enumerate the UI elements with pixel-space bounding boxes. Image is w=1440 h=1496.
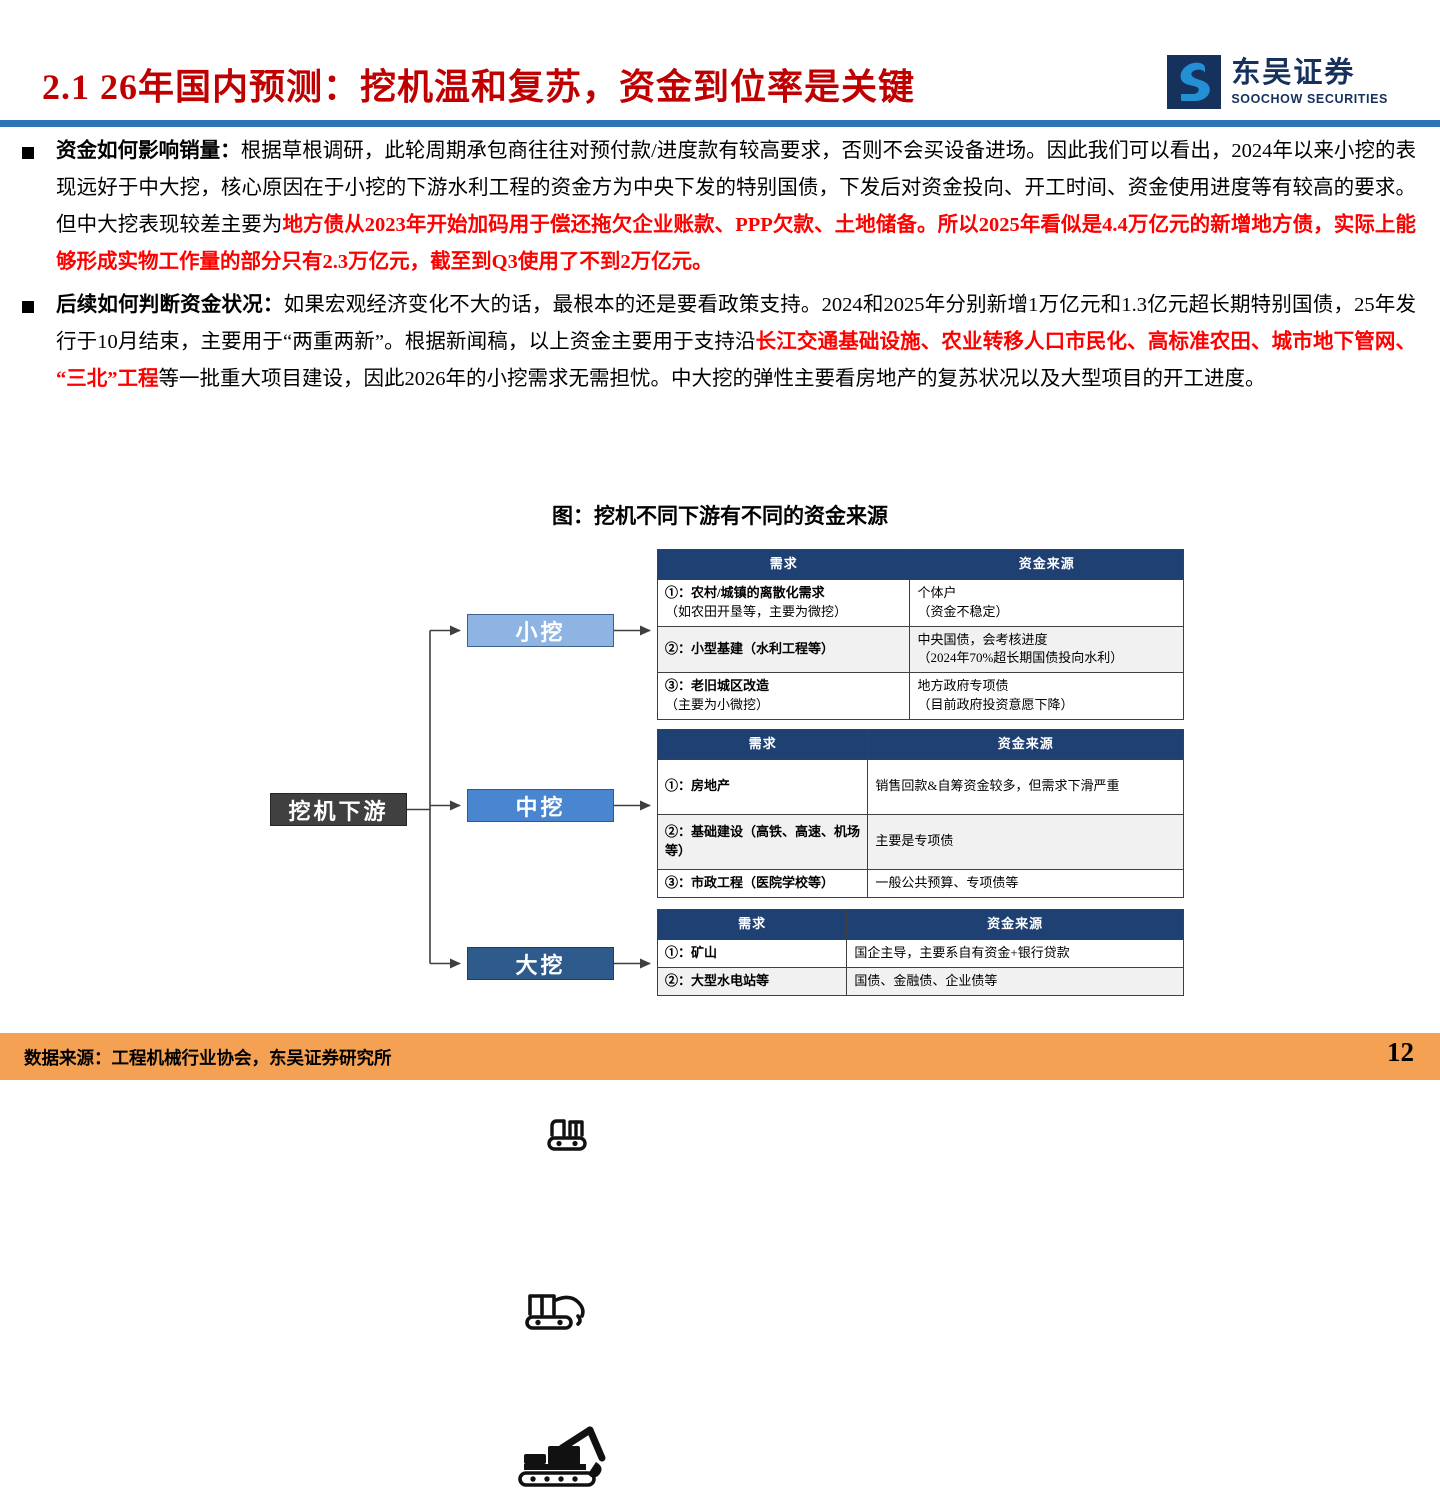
slide-footer: 数据来源：工程机械行业协会，东吴证券研究所 12	[0, 1033, 1440, 1080]
bullet-lead-1: 资金如何影响销量：	[56, 140, 241, 162]
cell-demand: ②：小型基建（水利工程等）	[658, 626, 910, 673]
col-demand: 需求	[658, 730, 868, 760]
source-main: 个体户	[917, 585, 956, 600]
source-main: 地方政府专项债	[917, 678, 1008, 693]
bullet-paragraph-2: 后续如何判断资金状况：如果宏观经济变化不大的话，最根本的还是要看政策支持。202…	[0, 287, 1440, 398]
demand-main: ①：农村/城镇的离散化需求	[665, 585, 825, 600]
square-bullet-icon	[22, 301, 34, 313]
cell-demand: ③：老旧城区改造 （主要为小微挖）	[658, 673, 910, 720]
cell-demand: ①：矿山	[658, 939, 847, 967]
company-logo: 东吴证券 SOOCHOW SECURITIES	[1167, 55, 1388, 109]
cell-demand: ③：市政工程（医院学校等）	[658, 869, 868, 897]
cell-demand: ①：房地产	[658, 759, 868, 814]
soochow-s-mark-icon	[1167, 55, 1221, 109]
bullet-run-2-2: 等一批重大项目建设，因此2026年的小挖需求无需担忧。中大挖的弹性主要看房地产的…	[159, 368, 1266, 390]
figure-diagram: 挖机下游 小挖 中挖 大挖 需求 资金来源 ①：农村/城镇的离散化需求 （如农田…	[0, 540, 1440, 1020]
bullet-text-1: 资金如何影响销量：根据草根调研，此轮周期承包商往往对预付款/进度款有较高要求，否…	[56, 133, 1416, 281]
node-medium-excavator[interactable]: 中挖	[467, 789, 614, 822]
logo-company-en: SOOCHOW SECURITIES	[1231, 93, 1388, 106]
figure-title: 图：挖机不同下游有不同的资金来源	[0, 500, 1440, 530]
table-row: ②：大型水电站等 国债、金融债、企业债等	[658, 967, 1184, 995]
cell-demand: ②：基础建设（高铁、高速、机场等）	[658, 814, 868, 869]
table-row: ①：矿山 国企主导，主要系自有资金+银行贷款	[658, 939, 1184, 967]
page-number: 12	[1387, 1037, 1414, 1068]
table-row: ①：农村/城镇的离散化需求 （如农田开垦等，主要为微挖） 个体户 （资金不稳定）	[658, 579, 1184, 626]
cell-source: 中央国债，会考核进度 （2024年70%超长期国债投向水利）	[910, 626, 1184, 673]
source-sub: （2024年70%超长期国债投向水利）	[917, 650, 1123, 665]
cell-source: 主要是专项债	[868, 814, 1184, 869]
body-content: 资金如何影响销量：根据草根调研，此轮周期承包商往往对预付款/进度款有较高要求，否…	[0, 133, 1440, 404]
cell-source: 地方政府专项债 （目前政府投资意愿下降）	[910, 673, 1184, 720]
col-demand: 需求	[658, 910, 847, 940]
source-main: 中央国债，会考核进度	[917, 632, 1047, 647]
mini-excavator-icon	[540, 1116, 596, 1156]
cell-source: 国债、金融债、企业债等	[847, 967, 1184, 995]
cell-source: 国企主导，主要系自有资金+银行贷款	[847, 939, 1184, 967]
table-header-row: 需求 资金来源	[658, 730, 1184, 760]
node-excavator-downstream[interactable]: 挖机下游	[270, 793, 407, 826]
node-small-excavator[interactable]: 小挖	[467, 614, 614, 647]
bullet-lead-2: 后续如何判断资金状况：	[56, 294, 284, 316]
col-funding-source: 资金来源	[910, 550, 1184, 580]
col-funding-source: 资金来源	[868, 730, 1184, 760]
square-bullet-icon	[22, 147, 34, 159]
demand-sub: （主要为小微挖）	[665, 697, 769, 712]
large-excavator-icon	[510, 1424, 622, 1496]
bullet-paragraph-1: 资金如何影响销量：根据草根调研，此轮周期承包商往往对预付款/进度款有较高要求，否…	[0, 133, 1440, 281]
table-row: ③：老旧城区改造 （主要为小微挖） 地方政府专项债 （目前政府投资意愿下降）	[658, 673, 1184, 720]
demand-main: ③：老旧城区改造	[665, 678, 769, 693]
cell-source: 销售回款&自筹资金较多，但需求下滑严重	[868, 759, 1184, 814]
slide-header: 2.1 26年国内预测：挖机温和复苏，资金到位率是关键 东吴证券 SOOCHOW…	[0, 0, 1440, 125]
source-sub: （目前政府投资意愿下降）	[917, 697, 1073, 712]
cell-source: 一般公共预算、专项债等	[868, 869, 1184, 897]
data-source-note: 数据来源：工程机械行业协会，东吴证券研究所	[24, 1045, 392, 1070]
table-row: ①：房地产 销售回款&自筹资金较多，但需求下滑严重	[658, 759, 1184, 814]
header-divider	[0, 120, 1440, 127]
cell-demand: ②：大型水电站等	[658, 967, 847, 995]
medium-excavator-icon	[520, 1288, 602, 1338]
table-medium-excavator-funding: 需求 资金来源 ①：房地产 销售回款&自筹资金较多，但需求下滑严重 ②：基础建设…	[657, 729, 1184, 898]
cell-demand: ①：农村/城镇的离散化需求 （如农田开垦等，主要为微挖）	[658, 579, 910, 626]
table-row: ②：基础建设（高铁、高速、机场等） 主要是专项债	[658, 814, 1184, 869]
source-sub: （资金不稳定）	[917, 604, 1008, 619]
col-demand: 需求	[658, 550, 910, 580]
table-header-row: 需求 资金来源	[658, 550, 1184, 580]
col-funding-source: 资金来源	[847, 910, 1184, 940]
table-small-excavator-funding: 需求 资金来源 ①：农村/城镇的离散化需求 （如农田开垦等，主要为微挖） 个体户…	[657, 549, 1184, 720]
node-large-excavator[interactable]: 大挖	[467, 947, 614, 980]
cell-source: 个体户 （资金不稳定）	[910, 579, 1184, 626]
table-row: ③：市政工程（医院学校等） 一般公共预算、专项债等	[658, 869, 1184, 897]
demand-sub: （如农田开垦等，主要为微挖）	[665, 604, 847, 619]
logo-company-cn: 东吴证券	[1231, 59, 1388, 88]
table-header-row: 需求 资金来源	[658, 910, 1184, 940]
table-row: ②：小型基建（水利工程等） 中央国债，会考核进度 （2024年70%超长期国债投…	[658, 626, 1184, 673]
page-title: 2.1 26年国内预测：挖机温和复苏，资金到位率是关键	[42, 58, 915, 110]
table-large-excavator-funding: 需求 资金来源 ①：矿山 国企主导，主要系自有资金+银行贷款 ②：大型水电站等 …	[657, 909, 1184, 996]
bullet-text-2: 后续如何判断资金状况：如果宏观经济变化不大的话，最根本的还是要看政策支持。202…	[56, 287, 1416, 398]
